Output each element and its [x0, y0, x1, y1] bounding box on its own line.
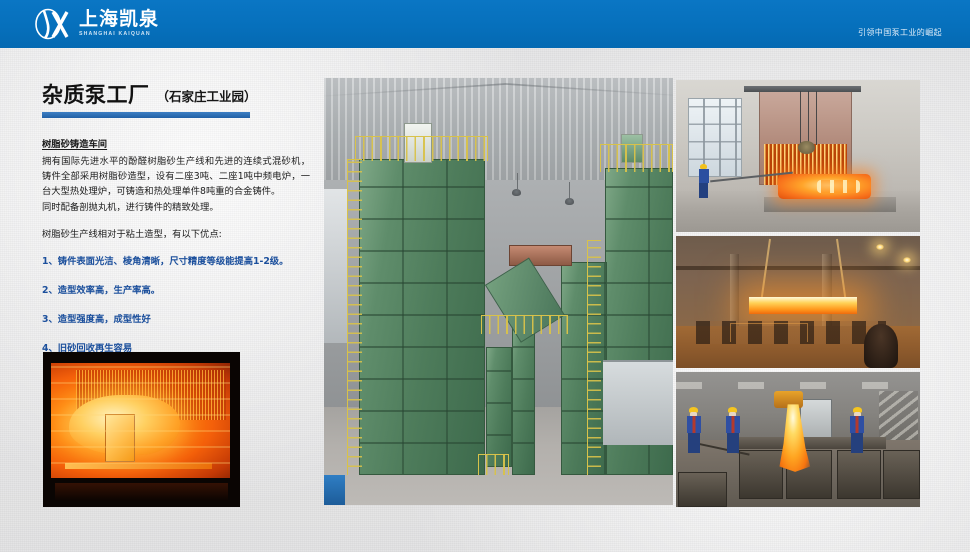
access-ladder-left: [347, 159, 363, 475]
sand-hopper-mid: [486, 347, 512, 467]
furnace-hearth-bar: [65, 463, 212, 469]
roof-truss: [324, 83, 673, 97]
mold-box: [837, 450, 881, 499]
worker-torso: [850, 416, 864, 433]
ceiling-lamp: [512, 189, 521, 196]
logo-english-name: SHANGHAI KAIQUAN: [79, 32, 159, 37]
high-bay-light: [876, 244, 884, 250]
safety-railing: [481, 315, 568, 334]
body-paragraph-2: 同时配备剖抛丸机，进行铸件的精致处理。: [42, 200, 310, 215]
resin-sand-line-photo: [324, 78, 673, 505]
high-bay-light: [903, 257, 911, 263]
furnace-glow-area: [51, 363, 230, 478]
floor-blue-marking: [324, 475, 345, 505]
kaiquan-logo-mark-icon: [34, 7, 72, 41]
wall-pier: [730, 254, 740, 328]
worker-torso: [687, 416, 701, 433]
list-item: 1、铸件表面光洁、棱角清晰，尺寸精度等级能提高1-2级。: [42, 255, 310, 269]
safety-railing: [600, 144, 673, 172]
presentation-slide: 上海凯泉 SHANGHAI KAIQUAN 引领中国泵工业的崛起 杂质泵工厂 （…: [0, 0, 970, 552]
worker-legs: [851, 433, 863, 453]
furnace-charge-cart: [764, 197, 896, 212]
heat-treatment-furnace-photo: [676, 80, 920, 232]
slide-header-bar: 上海凯泉 SHANGHAI KAIQUAN 引领中国泵工业的崛起: [0, 0, 970, 48]
factory-worker: [849, 407, 865, 453]
factory-worker: [698, 164, 710, 198]
furnace-base-shadow: [55, 483, 228, 501]
header-slogan: 引领中国泵工业的崛起: [858, 27, 942, 38]
interior-office-block: [603, 360, 673, 445]
furnace-interior-photo: [43, 352, 240, 507]
mold-box: [883, 450, 920, 499]
wall-window-strip: [324, 189, 348, 343]
page-title: 杂质泵工厂 （石家庄工业园）: [42, 84, 310, 107]
floor-railing: [730, 323, 808, 341]
worker-legs: [699, 183, 708, 198]
wall-doorway: [800, 399, 832, 442]
page-title-main: 杂质泵工厂: [42, 84, 150, 107]
worker-torso: [699, 169, 709, 183]
factory-worker: [725, 407, 741, 453]
ceiling-lamp: [565, 198, 574, 205]
logo-wordmark: 上海凯泉 SHANGHAI KAIQUAN: [79, 10, 159, 37]
hot-casting-blob: [69, 395, 180, 455]
safety-railing: [355, 136, 488, 162]
section-subheading: 树脂砂铸造车间: [42, 136, 310, 150]
crane-slings: [749, 239, 856, 300]
worker-legs: [727, 433, 739, 453]
body-paragraph-3: 树脂砂生产线相对于粘土造型，有以下优点:: [42, 227, 310, 242]
title-accent-bar: [42, 112, 250, 118]
sand-mixer-tower-left: [359, 159, 485, 475]
mold-box: [678, 472, 727, 507]
molten-metal-pouring-photo: [676, 372, 920, 507]
support-column-mid: [512, 321, 535, 475]
worker-torso: [726, 416, 740, 433]
factory-worker: [686, 407, 702, 453]
body-paragraph-1: 拥有国际先进水平的酚醛树脂砂生产线和先进的连续式混砂机，铸件全部采用树脂砂造型，…: [42, 154, 310, 199]
worker-legs: [688, 433, 700, 453]
hall-window: [688, 98, 742, 177]
mold-box: [739, 450, 783, 499]
hoist-cables: [793, 91, 822, 146]
list-item: 3、造型强度高，成型性好: [42, 313, 310, 327]
crane-lifting-hot-billet-photo: [676, 236, 920, 368]
slide-text-column: 杂质泵工厂 （石家庄工业园） 树脂砂铸造车间 拥有国际先进水平的酚醛树脂砂生产线…: [42, 84, 310, 356]
access-ladder-right: [587, 240, 601, 475]
company-logo: 上海凯泉 SHANGHAI KAIQUAN: [34, 7, 159, 41]
page-title-sub: （石家庄工业园）: [157, 86, 257, 107]
safety-railing: [478, 454, 509, 475]
glowing-casting: [778, 174, 871, 198]
glowing-billet: [749, 297, 856, 314]
advantages-list: 1、铸件表面光洁、棱角清晰，尺寸精度等级能提高1-2级。 2、造型效率高，生产率…: [42, 255, 310, 356]
logo-chinese-name: 上海凯泉: [79, 10, 159, 29]
hot-casting-box: [105, 414, 135, 462]
worker-silhouette: [864, 324, 898, 368]
list-item: 2、造型效率高，生产率高。: [42, 284, 310, 298]
